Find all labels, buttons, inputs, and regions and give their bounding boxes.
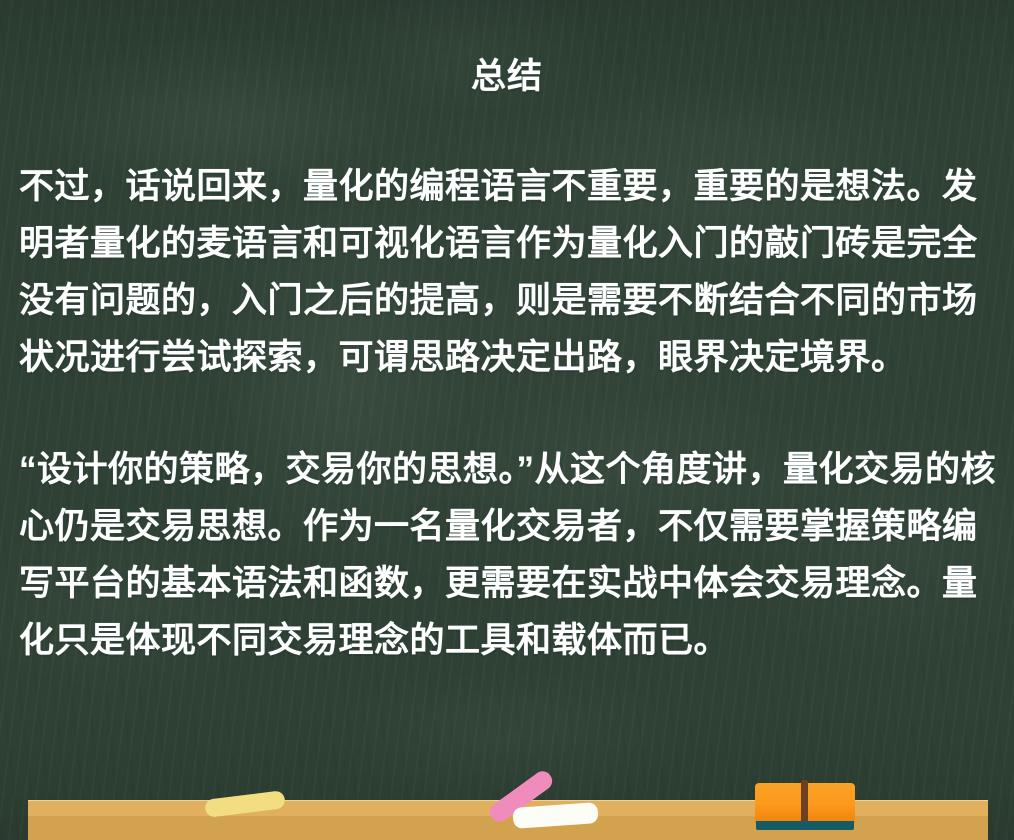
chalkboard-slide: 总结 不过，话说回来，量化的编程语言不重要，重要的是想法。发明者量化的麦语言和可…: [0, 0, 1014, 840]
orange-eraser-icon: [755, 783, 855, 830]
eraser-stripe: [801, 780, 808, 826]
paragraph-1: 不过，话说回来，量化的编程语言不重要，重要的是想法。发明者量化的麦语言和可视化语…: [19, 158, 1004, 386]
slide-body: 不过，话说回来，量化的编程语言不重要，重要的是想法。发明者量化的麦语言和可视化语…: [19, 158, 1004, 669]
eraser-base: [756, 821, 854, 830]
paragraph-2: “设计你的策略，交易你的思想。”从这个角度讲，量化交易的核心仍是交易思想。作为一…: [19, 441, 1004, 669]
page-title: 总结: [0, 48, 1014, 99]
